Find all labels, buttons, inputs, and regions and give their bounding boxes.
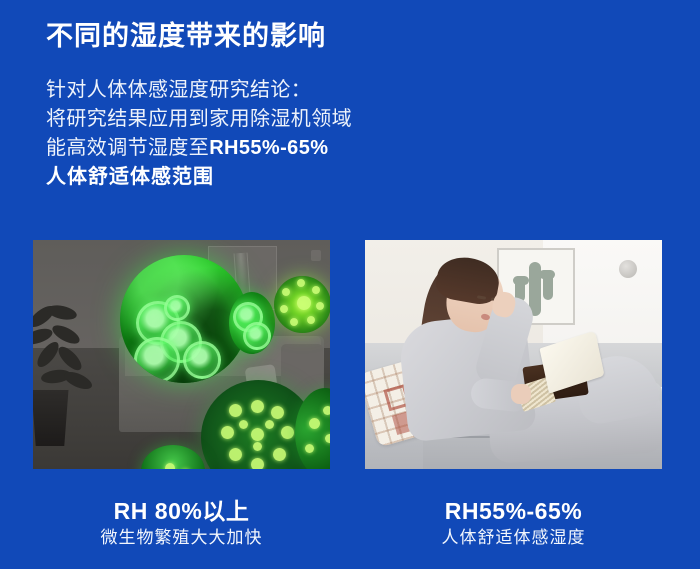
microbe-cluster-edge-icon xyxy=(229,292,275,354)
humidity-infographic-poster: 不同的湿度带来的影响 针对人体体感湿度研究结论： 将研究结果应用到家用除湿机领域… xyxy=(0,0,700,569)
panel-image-high-humidity xyxy=(33,240,330,469)
body-copy-block: 针对人体体感湿度研究结论： 将研究结果应用到家用除湿机领域 能高效调节湿度至RH… xyxy=(46,76,352,192)
body-line-1: 针对人体体感湿度研究结论： xyxy=(46,76,352,105)
panel-image-comfort-humidity xyxy=(365,240,662,469)
caption-comfort-humidity: RH55%-65% 人体舒适体感湿度 xyxy=(365,497,662,551)
body-line-3-prefix: 能高效调节湿度至 xyxy=(46,137,209,159)
page-title: 不同的湿度带来的影响 xyxy=(46,20,326,54)
book-page xyxy=(539,331,604,394)
dim-potted-plant-leaves xyxy=(33,304,95,400)
caption-subtitle: 人体舒适体感湿度 xyxy=(365,525,662,551)
dim-living-room-scene xyxy=(33,240,330,469)
microbe-cluster-top-icon xyxy=(274,276,330,333)
body-line-3: 能高效调节湿度至RH55%-65% xyxy=(46,134,352,163)
body-line-4: 人体舒适体感范围 xyxy=(46,163,352,192)
body-line-3-highlight: RH55%-65% xyxy=(209,137,328,159)
caption-subtitle: 微生物繁殖大大加快 xyxy=(33,525,330,551)
caption-high-humidity: RH 80%以上 微生物繁殖大大加快 xyxy=(33,497,330,551)
bright-living-room-scene xyxy=(365,240,662,469)
caption-title: RH55%-65% xyxy=(365,497,662,525)
figure-hand-holding-book xyxy=(511,384,531,404)
body-line-2: 将研究结果应用到家用除湿机领域 xyxy=(46,105,352,134)
caption-title: RH 80%以上 xyxy=(33,497,330,525)
wall-switch-icon xyxy=(311,250,321,261)
woman-reading-figure xyxy=(365,240,662,469)
